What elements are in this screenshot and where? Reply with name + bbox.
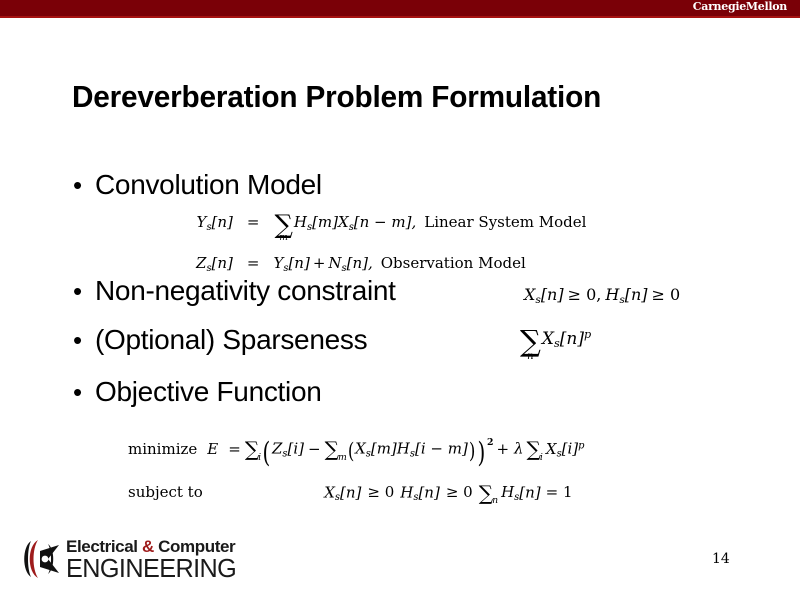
math-var-x: X [543, 440, 557, 458]
equation-row-minimize: minimize E =∑i(Zs[i]−∑m(Xs[m]Hs[i − m]))… [128, 436, 584, 469]
math-var-h: H [605, 285, 619, 304]
page-number: 14 [712, 551, 730, 567]
math-summation-m: ∑ m [274, 215, 292, 243]
equation-sparseness: ∑ n Xs[n]p [519, 328, 591, 361]
ece-logo: Electrical & Computer ENGINEERING [18, 536, 268, 584]
math-relation-geq-zero: ≥ 0 [361, 483, 400, 501]
equation-caption-linear-system-model: Linear System Model [416, 213, 586, 231]
math-relation-geq-zero: ≥ 0 [648, 285, 681, 304]
math-var-y: Y [197, 213, 207, 231]
bullet-objective-function: • Objective Function [73, 378, 322, 406]
math-summation-n: ∑n [479, 481, 498, 506]
math-paren-open-inner: ( [348, 439, 354, 464]
math-var-z: Z [272, 440, 282, 458]
equation-keyword-minimize: minimize [128, 436, 207, 469]
math-summation-n: ∑ n [520, 330, 541, 362]
equation-caption-observation-model: Observation Model [373, 254, 526, 272]
equation-row-observation: Zs[n] = Ys[n]+Ns[n],Observation Model [196, 243, 586, 274]
math-var-h: H [498, 483, 514, 501]
math-operator-minus: − [304, 440, 325, 458]
math-var-h: H [294, 213, 307, 231]
equation-objective-function: minimize E =∑i(Zs[i]−∑m(Xs[m]Hs[i − m]))… [128, 436, 584, 506]
math-var-x: X [338, 213, 349, 231]
math-operator-plus: + [310, 254, 329, 272]
bullet-label: (Optional) Sparseness [95, 326, 367, 354]
math-arg-n: [n] [212, 213, 233, 231]
ece-emblem-icon [18, 538, 62, 580]
math-summation-i-reg: ∑i [524, 437, 543, 462]
bullet-marker-icon: • [73, 379, 95, 405]
math-var-x: X [542, 329, 554, 349]
bullet-non-negativity-constraint: • Non-negativity constraint [73, 277, 396, 305]
math-symbol-lambda: λ [514, 440, 524, 458]
math-var-h: H [400, 483, 413, 501]
math-operator-plus: + [493, 440, 514, 458]
header-bar: CarnegieMellon [0, 0, 800, 18]
equation-keyword-subject-to: subject to [128, 469, 228, 506]
bullet-label: Non-negativity constraint [95, 277, 396, 305]
math-var-x: X [324, 483, 335, 501]
equation-non-negativity: Xs[n]≥ 0,Hs[n]≥ 0 [524, 285, 680, 306]
math-var-n-noise: N [328, 254, 341, 272]
equation-convolution-model: Ys[n] = ∑ m Hs[m]Xs[n − m],Linear System… [196, 213, 586, 274]
math-exponent-p: p [578, 441, 584, 452]
math-var-y: Y [273, 254, 283, 272]
math-relation-geq-zero: ≥ 0 [440, 483, 479, 501]
math-relation-equals: = [247, 213, 274, 243]
bullet-marker-icon: • [73, 278, 95, 304]
math-paren-open-outer: ( [263, 436, 271, 469]
math-relation-geq-zero: ≥ 0, [564, 285, 606, 304]
math-paren-close-inner: ) [469, 439, 475, 464]
bullet-label: Convolution Model [95, 171, 322, 199]
ece-wordmark-line2: ENGINEERING [66, 556, 236, 581]
ece-wordmark: Electrical & Computer ENGINEERING [66, 537, 241, 581]
math-summation-i: ∑i [245, 437, 261, 462]
math-var-e: E [207, 440, 218, 458]
carnegie-mellon-wordmark: CarnegieMellon [693, 0, 787, 15]
bullet-convolution-model: • Convolution Model [73, 171, 322, 199]
math-relation-equals: = [228, 440, 245, 458]
math-var-x: X [355, 440, 366, 458]
bullet-optional-sparseness: • (Optional) Sparseness [73, 326, 367, 354]
math-var-x: X [524, 285, 535, 304]
math-var-z: Z [196, 254, 206, 272]
bullet-label: Objective Function [95, 378, 322, 406]
equation-row-linear-system: Ys[n] = ∑ m Hs[m]Xs[n − m],Linear System… [196, 213, 586, 243]
page-title: Dereverberation Problem Formulation [72, 79, 601, 115]
bullet-marker-icon: • [73, 327, 95, 353]
math-var-h: H [397, 440, 410, 458]
bullet-marker-icon: • [73, 172, 95, 198]
math-summation-m: ∑m [325, 437, 347, 462]
math-exponent-p: p [584, 328, 591, 341]
math-relation-equals-one: = 1 [541, 483, 573, 501]
math-paren-close-outer: ) [478, 436, 486, 469]
equation-row-subject-to: subject to Xs[n]≥ 0Hs[n]≥ 0∑nHs[n]= 1 [128, 469, 584, 506]
math-relation-equals: = [247, 243, 274, 274]
